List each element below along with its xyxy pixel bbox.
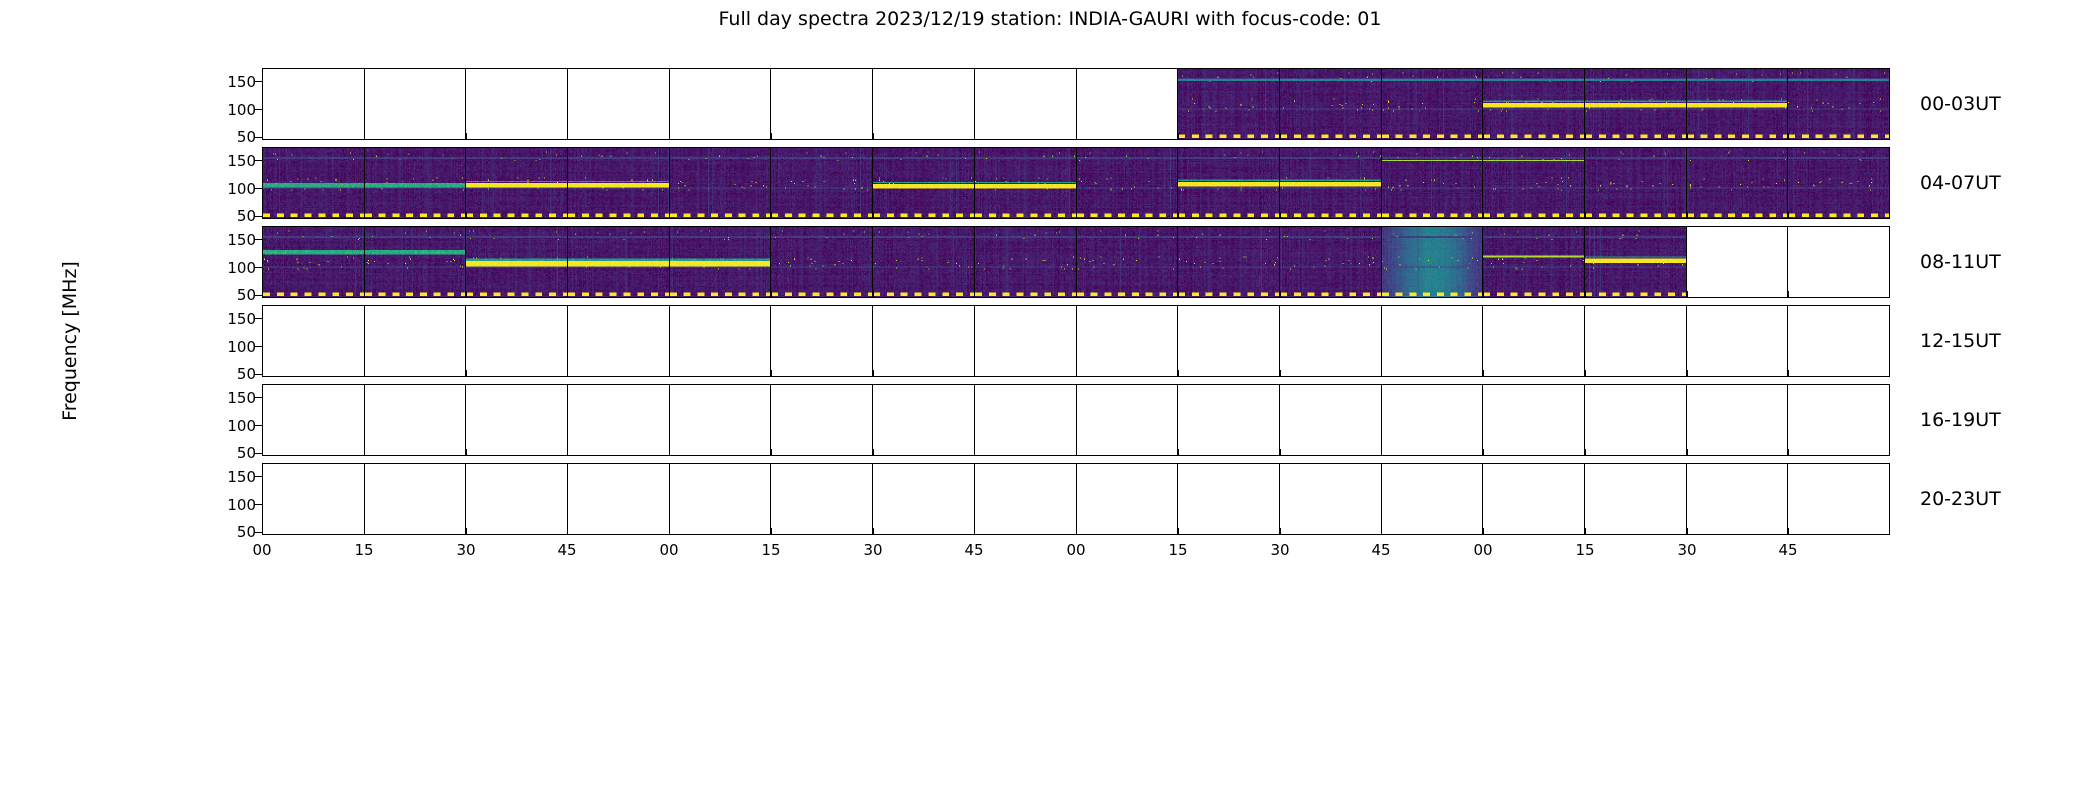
spectrogram-panel[interactable]	[466, 227, 568, 297]
spectrogram-panel[interactable]	[365, 69, 467, 139]
spectrogram-panel[interactable]	[1382, 227, 1484, 297]
x-tick-mark	[669, 528, 670, 535]
x-tick-mark	[1178, 133, 1179, 140]
spectrogram-panel[interactable]	[1077, 385, 1179, 455]
y-tick-label: 50	[237, 286, 256, 304]
spectrogram-panel[interactable]	[466, 69, 568, 139]
x-tick-mark	[567, 528, 568, 535]
y-tick-mark	[255, 109, 262, 110]
x-tick-mark	[1381, 370, 1382, 377]
x-tick-mark	[974, 133, 975, 140]
y-tick-label: 150	[227, 231, 256, 249]
spectrogram-panel[interactable]	[365, 385, 467, 455]
x-tick-mark	[262, 449, 263, 456]
x-tick-label: 00	[659, 541, 678, 559]
x-tick-label: 00	[1473, 541, 1492, 559]
x-tick-mark	[1178, 291, 1179, 298]
y-tick-mark	[255, 425, 262, 426]
x-tick-mark	[466, 449, 467, 456]
spectrogram-panel[interactable]	[1280, 227, 1382, 297]
x-tick-mark	[1687, 370, 1688, 377]
x-tick-label: 30	[863, 541, 882, 559]
spectrogram-panel[interactable]	[975, 464, 1077, 534]
x-tick-mark	[1483, 528, 1484, 535]
spectrogram-panel[interactable]	[263, 69, 365, 139]
spectrogram-panel[interactable]	[771, 148, 873, 218]
x-tick-mark	[1585, 212, 1586, 219]
x-tick-mark	[1585, 370, 1586, 377]
spectrogram-panel[interactable]	[1077, 306, 1179, 376]
x-tick-mark	[873, 212, 874, 219]
x-tick-mark	[1788, 212, 1789, 219]
panel-grid	[263, 306, 1889, 376]
x-tick-mark	[1585, 133, 1586, 140]
spectrogram-row-04-07ut: 50100150	[262, 147, 1890, 219]
x-tick-mark	[1483, 370, 1484, 377]
x-tick-mark	[567, 449, 568, 456]
y-tick-mark	[255, 532, 262, 533]
x-tick-mark	[364, 370, 365, 377]
y-tick-label: 150	[227, 389, 256, 407]
spectrogram-panel[interactable]	[568, 227, 670, 297]
spectrogram-panel[interactable]	[1382, 464, 1484, 534]
spectrogram-row-00-03ut: 50100150	[262, 68, 1890, 140]
panel-grid	[263, 69, 1889, 139]
row-time-label: 16-19UT	[1920, 409, 2001, 431]
y-tick-mark	[255, 318, 262, 319]
x-tick-mark	[567, 212, 568, 219]
spectrogram-panel[interactable]	[670, 385, 772, 455]
row-axes	[262, 463, 1890, 535]
spectrogram-panel[interactable]	[263, 464, 365, 534]
x-tick-mark	[771, 291, 772, 298]
x-tick-mark	[1381, 212, 1382, 219]
x-tick-mark	[1280, 370, 1281, 377]
x-tick-label: 15	[354, 541, 373, 559]
spectrogram-panel[interactable]	[975, 385, 1077, 455]
spectrogram-panel[interactable]	[1788, 385, 1889, 455]
spectrogram-panel[interactable]	[1483, 148, 1585, 218]
x-tick-mark	[771, 449, 772, 456]
y-tick-label: 100	[227, 338, 256, 356]
y-tick-mark	[255, 81, 262, 82]
x-tick-mark	[1076, 370, 1077, 377]
y-tick-mark	[255, 188, 262, 189]
spectrogram-panel[interactable]	[263, 227, 365, 297]
x-tick-mark	[1483, 133, 1484, 140]
spectrogram-panel[interactable]	[466, 385, 568, 455]
x-tick-mark	[873, 528, 874, 535]
x-tick-mark	[262, 133, 263, 140]
x-tick-mark	[1585, 449, 1586, 456]
x-tick-label: 15	[761, 541, 780, 559]
row-axes	[262, 147, 1890, 219]
spectrogram-panel[interactable]	[1382, 148, 1484, 218]
spectrogram-panel[interactable]	[1687, 148, 1789, 218]
x-tick-mark	[466, 212, 467, 219]
spectrogram-panel[interactable]	[873, 306, 975, 376]
y-tick-mark	[255, 374, 262, 375]
x-tick-mark	[567, 133, 568, 140]
spectrogram-panel[interactable]	[365, 464, 467, 534]
x-tick-mark	[1788, 133, 1789, 140]
spectrogram-panel[interactable]	[365, 227, 467, 297]
spectrogram-panel[interactable]	[1788, 148, 1889, 218]
spectrogram-panel[interactable]	[1382, 385, 1484, 455]
x-tick-label: 00	[1066, 541, 1085, 559]
panel-grid	[263, 148, 1889, 218]
spectrogram-panel[interactable]	[1788, 306, 1889, 376]
row-axes	[262, 68, 1890, 140]
x-tick-label: 45	[964, 541, 983, 559]
x-tick-mark	[1585, 528, 1586, 535]
y-tick-label: 50	[237, 207, 256, 225]
x-tick-mark	[364, 133, 365, 140]
panel-grid	[263, 464, 1889, 534]
x-tick-mark	[466, 133, 467, 140]
x-tick-label: 45	[557, 541, 576, 559]
spectrogram-panel[interactable]	[263, 385, 365, 455]
row-time-label: 00-03UT	[1920, 93, 2001, 115]
y-tick-label: 100	[227, 101, 256, 119]
x-tick-mark	[1381, 449, 1382, 456]
x-tick-mark	[1381, 291, 1382, 298]
spectrogram-panel[interactable]	[1585, 306, 1687, 376]
x-tick-mark	[1178, 370, 1179, 377]
y-tick-label: 150	[227, 310, 256, 328]
x-tick-mark	[1178, 212, 1179, 219]
y-tick-label: 150	[227, 152, 256, 170]
y-tick-mark	[255, 476, 262, 477]
x-tick-mark	[1280, 291, 1281, 298]
x-tick-mark	[364, 291, 365, 298]
spectrogram-panel[interactable]	[1280, 464, 1382, 534]
y-tick-mark	[255, 160, 262, 161]
spectrogram-panel[interactable]	[1788, 464, 1889, 534]
x-tick-mark	[974, 291, 975, 298]
x-tick-mark	[1280, 449, 1281, 456]
x-tick-mark	[974, 528, 975, 535]
y-tick-label: 50	[237, 128, 256, 146]
spectrogram-panel[interactable]	[1077, 227, 1179, 297]
x-tick-mark	[771, 528, 772, 535]
x-tick-label: 45	[1371, 541, 1390, 559]
x-tick-mark	[1076, 212, 1077, 219]
x-tick-label: 45	[1778, 541, 1797, 559]
x-tick-mark	[873, 449, 874, 456]
spectrogram-panel[interactable]	[1382, 306, 1484, 376]
row-axes	[262, 384, 1890, 456]
x-tick-mark	[1076, 133, 1077, 140]
spectrogram-panel[interactable]	[1178, 69, 1280, 139]
spectrogram-panel[interactable]	[1788, 227, 1889, 297]
spectrogram-panel[interactable]	[873, 227, 975, 297]
y-tick-mark	[255, 346, 262, 347]
y-axis-label-text: Frequency [MHz]	[59, 211, 81, 471]
y-tick-mark	[255, 453, 262, 454]
spectrogram-panel[interactable]	[1483, 227, 1585, 297]
y-tick-label: 150	[227, 468, 256, 486]
spectrogram-row-20-23ut: 5010015000153045001530450015304500153045	[262, 463, 1890, 535]
spectrogram-panel[interactable]	[1178, 464, 1280, 534]
spectrogram-panel[interactable]	[1077, 464, 1179, 534]
x-tick-label: 30	[1677, 541, 1696, 559]
x-tick-label: 15	[1575, 541, 1594, 559]
x-tick-mark	[974, 449, 975, 456]
figure-canvas: Full day spectra 2023/12/19 station: IND…	[0, 0, 2100, 800]
spectrogram-panel[interactable]	[771, 306, 873, 376]
spectrogram-panel[interactable]	[771, 464, 873, 534]
spectrogram-panel[interactable]	[365, 148, 467, 218]
y-tick-mark	[255, 504, 262, 505]
x-tick-mark	[669, 291, 670, 298]
x-tick-mark	[1076, 528, 1077, 535]
x-tick-mark	[466, 528, 467, 535]
row-time-label: 20-23UT	[1920, 488, 2001, 510]
spectrogram-panel[interactable]	[1178, 306, 1280, 376]
spectrogram-panel[interactable]	[873, 69, 975, 139]
x-tick-mark	[1178, 528, 1179, 535]
x-tick-mark	[1788, 370, 1789, 377]
spectrogram-panel[interactable]	[365, 306, 467, 376]
panel-grid	[263, 227, 1889, 297]
spectrogram-panel[interactable]	[975, 148, 1077, 218]
spectrogram-panel[interactable]	[670, 227, 772, 297]
x-tick-mark	[771, 133, 772, 140]
x-tick-mark	[1687, 291, 1688, 298]
spectrogram-panel[interactable]	[1585, 227, 1687, 297]
x-tick-mark	[1788, 291, 1789, 298]
x-tick-mark	[1381, 528, 1382, 535]
x-tick-mark	[364, 528, 365, 535]
spectrogram-panel[interactable]	[975, 69, 1077, 139]
spectrogram-panel[interactable]	[975, 227, 1077, 297]
y-tick-mark	[255, 137, 262, 138]
spectrogram-panel[interactable]	[1483, 69, 1585, 139]
y-tick-label: 50	[237, 365, 256, 383]
x-tick-mark	[974, 370, 975, 377]
spectrogram-panel[interactable]	[1585, 148, 1687, 218]
spectrogram-panel[interactable]	[568, 385, 670, 455]
spectrogram-panel[interactable]	[568, 69, 670, 139]
spectrogram-panel[interactable]	[1687, 464, 1789, 534]
y-tick-label: 100	[227, 180, 256, 198]
spectrogram-panel[interactable]	[1178, 148, 1280, 218]
x-tick-mark	[974, 212, 975, 219]
x-tick-label: 30	[456, 541, 475, 559]
spectrogram-panel[interactable]	[1178, 227, 1280, 297]
x-tick-mark	[1788, 449, 1789, 456]
x-tick-mark	[1178, 449, 1179, 456]
y-tick-label: 100	[227, 417, 256, 435]
x-tick-mark	[669, 449, 670, 456]
spectrogram-panel[interactable]	[1077, 69, 1179, 139]
x-tick-mark	[364, 449, 365, 456]
x-tick-mark	[1788, 528, 1789, 535]
x-tick-mark	[1687, 528, 1688, 535]
y-tick-mark	[255, 267, 262, 268]
row-time-label: 04-07UT	[1920, 172, 2001, 194]
panel-grid	[263, 385, 1889, 455]
x-tick-label: 15	[1168, 541, 1187, 559]
spectrogram-panel[interactable]	[1483, 306, 1585, 376]
spectrogram-panel[interactable]	[1382, 69, 1484, 139]
x-tick-mark	[873, 370, 874, 377]
spectrogram-panel[interactable]	[1585, 385, 1687, 455]
spectrogram-panel[interactable]	[1483, 464, 1585, 534]
x-tick-mark	[262, 291, 263, 298]
spectrogram-panel[interactable]	[670, 69, 772, 139]
spectrogram-panel[interactable]	[466, 148, 568, 218]
x-tick-mark	[1381, 133, 1382, 140]
x-tick-mark	[873, 291, 874, 298]
y-tick-label: 100	[227, 259, 256, 277]
y-tick-mark	[255, 397, 262, 398]
y-tick-mark	[255, 295, 262, 296]
x-tick-mark	[1483, 212, 1484, 219]
row-time-label: 12-15UT	[1920, 330, 2001, 352]
spectrogram-panel[interactable]	[771, 69, 873, 139]
spectrogram-panel[interactable]	[568, 306, 670, 376]
spectrogram-row-12-15ut: 50100150	[262, 305, 1890, 377]
spectrogram-panel[interactable]	[1585, 69, 1687, 139]
spectrogram-panel[interactable]	[670, 306, 772, 376]
spectrogram-panel[interactable]	[1687, 385, 1789, 455]
row-axes	[262, 226, 1890, 298]
y-tick-mark	[255, 239, 262, 240]
x-tick-mark	[262, 528, 263, 535]
spectrogram-row-08-11ut: 50100150	[262, 226, 1890, 298]
x-tick-mark	[1076, 449, 1077, 456]
spectrogram-panel[interactable]	[1280, 306, 1382, 376]
spectrogram-panel[interactable]	[873, 464, 975, 534]
x-tick-mark	[567, 291, 568, 298]
x-tick-mark	[1280, 133, 1281, 140]
x-tick-mark	[873, 133, 874, 140]
y-tick-label: 150	[227, 73, 256, 91]
spectrogram-panel[interactable]	[975, 306, 1077, 376]
x-tick-mark	[669, 370, 670, 377]
x-tick-mark	[262, 370, 263, 377]
spectrogram-panel[interactable]	[1178, 385, 1280, 455]
spectrogram-panel[interactable]	[1687, 69, 1789, 139]
row-time-label: 08-11UT	[1920, 251, 2001, 273]
spectrogram-panel[interactable]	[1483, 385, 1585, 455]
spectrogram-panel[interactable]	[466, 306, 568, 376]
x-tick-mark	[1687, 133, 1688, 140]
spectrogram-panel[interactable]	[1077, 148, 1179, 218]
x-tick-mark	[669, 212, 670, 219]
spectrogram-panel[interactable]	[771, 385, 873, 455]
spectrogram-panel[interactable]	[466, 464, 568, 534]
row-axes	[262, 305, 1890, 377]
x-tick-label: 00	[252, 541, 271, 559]
spectrogram-panel[interactable]	[1280, 385, 1382, 455]
y-tick-label: 50	[237, 444, 256, 462]
x-tick-mark	[1483, 291, 1484, 298]
x-tick-mark	[771, 212, 772, 219]
x-tick-mark	[1585, 291, 1586, 298]
spectrogram-panel[interactable]	[263, 306, 365, 376]
x-tick-mark	[262, 212, 263, 219]
spectrogram-panel[interactable]	[1280, 148, 1382, 218]
spectrogram-row-16-19ut: 50100150	[262, 384, 1890, 456]
spectrogram-panel[interactable]	[1280, 69, 1382, 139]
spectrogram-panel[interactable]	[1687, 306, 1789, 376]
x-tick-mark	[567, 370, 568, 377]
x-tick-mark	[1076, 291, 1077, 298]
x-tick-mark	[771, 370, 772, 377]
x-tick-mark	[466, 370, 467, 377]
spectrogram-panel[interactable]	[670, 464, 772, 534]
spectrogram-panel[interactable]	[670, 148, 772, 218]
spectrogram-panel[interactable]	[263, 148, 365, 218]
spectrogram-panel[interactable]	[1687, 227, 1789, 297]
x-tick-mark	[1687, 212, 1688, 219]
x-tick-mark	[669, 133, 670, 140]
spectrogram-panel[interactable]	[1788, 69, 1889, 139]
spectrogram-panel[interactable]	[1585, 464, 1687, 534]
spectrogram-panel[interactable]	[873, 385, 975, 455]
y-tick-mark	[255, 216, 262, 217]
spectrogram-panel[interactable]	[568, 148, 670, 218]
y-tick-label: 100	[227, 496, 256, 514]
x-tick-mark	[1280, 528, 1281, 535]
spectrogram-panel[interactable]	[568, 464, 670, 534]
x-tick-mark	[364, 212, 365, 219]
x-tick-label: 30	[1270, 541, 1289, 559]
y-tick-label: 50	[237, 523, 256, 541]
spectrogram-panel[interactable]	[771, 227, 873, 297]
figure-title: Full day spectra 2023/12/19 station: IND…	[0, 8, 2100, 30]
x-tick-mark	[1687, 449, 1688, 456]
x-tick-mark	[1280, 212, 1281, 219]
x-tick-mark	[1483, 449, 1484, 456]
spectrogram-panel[interactable]	[873, 148, 975, 218]
x-tick-mark	[466, 291, 467, 298]
